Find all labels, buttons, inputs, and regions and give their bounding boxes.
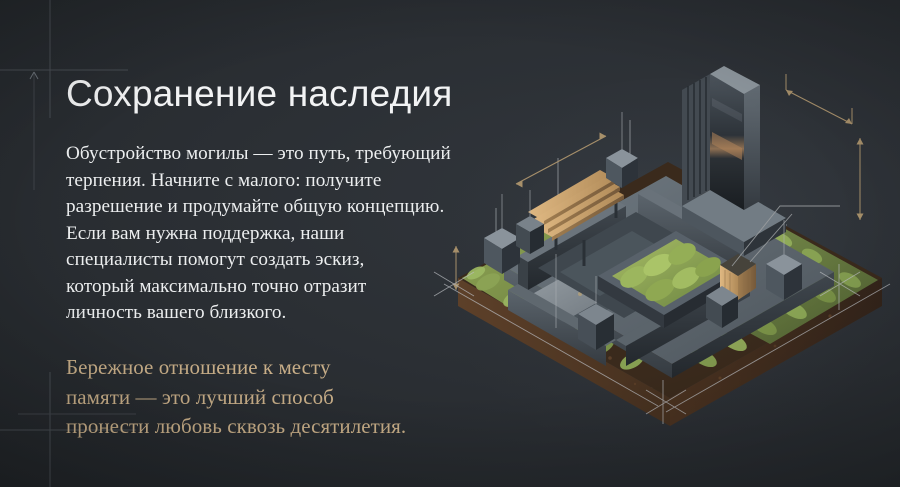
highlight-line: Бережное отношение к месту bbox=[66, 355, 331, 379]
body-line: Обустройство могилы — это путь, требующи… bbox=[66, 143, 451, 164]
body-line: Если вам нужна поддержка, наши bbox=[66, 223, 344, 244]
memorial-illustration bbox=[420, 28, 900, 468]
body-line: разрешение и продумайте общую концепцию. bbox=[66, 196, 444, 217]
slide-root: Сохранение наследия Обустройство могилы … bbox=[0, 0, 900, 487]
body-line: терпения. Начните с малого: получите bbox=[66, 170, 381, 191]
headstone-side-right bbox=[744, 85, 760, 210]
body-line: личность вашего близкого. bbox=[66, 302, 286, 323]
highlight-line: пронести любовь сквозь десятилетия. bbox=[66, 414, 406, 438]
dim-arrow-head bbox=[857, 138, 864, 145]
body-line: который максимально точно отразит bbox=[66, 276, 366, 297]
highlight-line: памяти — это лучший способ bbox=[66, 385, 334, 409]
body-line: специалисты помогут создать эскиз, bbox=[66, 249, 364, 270]
corner-post bbox=[516, 216, 544, 254]
